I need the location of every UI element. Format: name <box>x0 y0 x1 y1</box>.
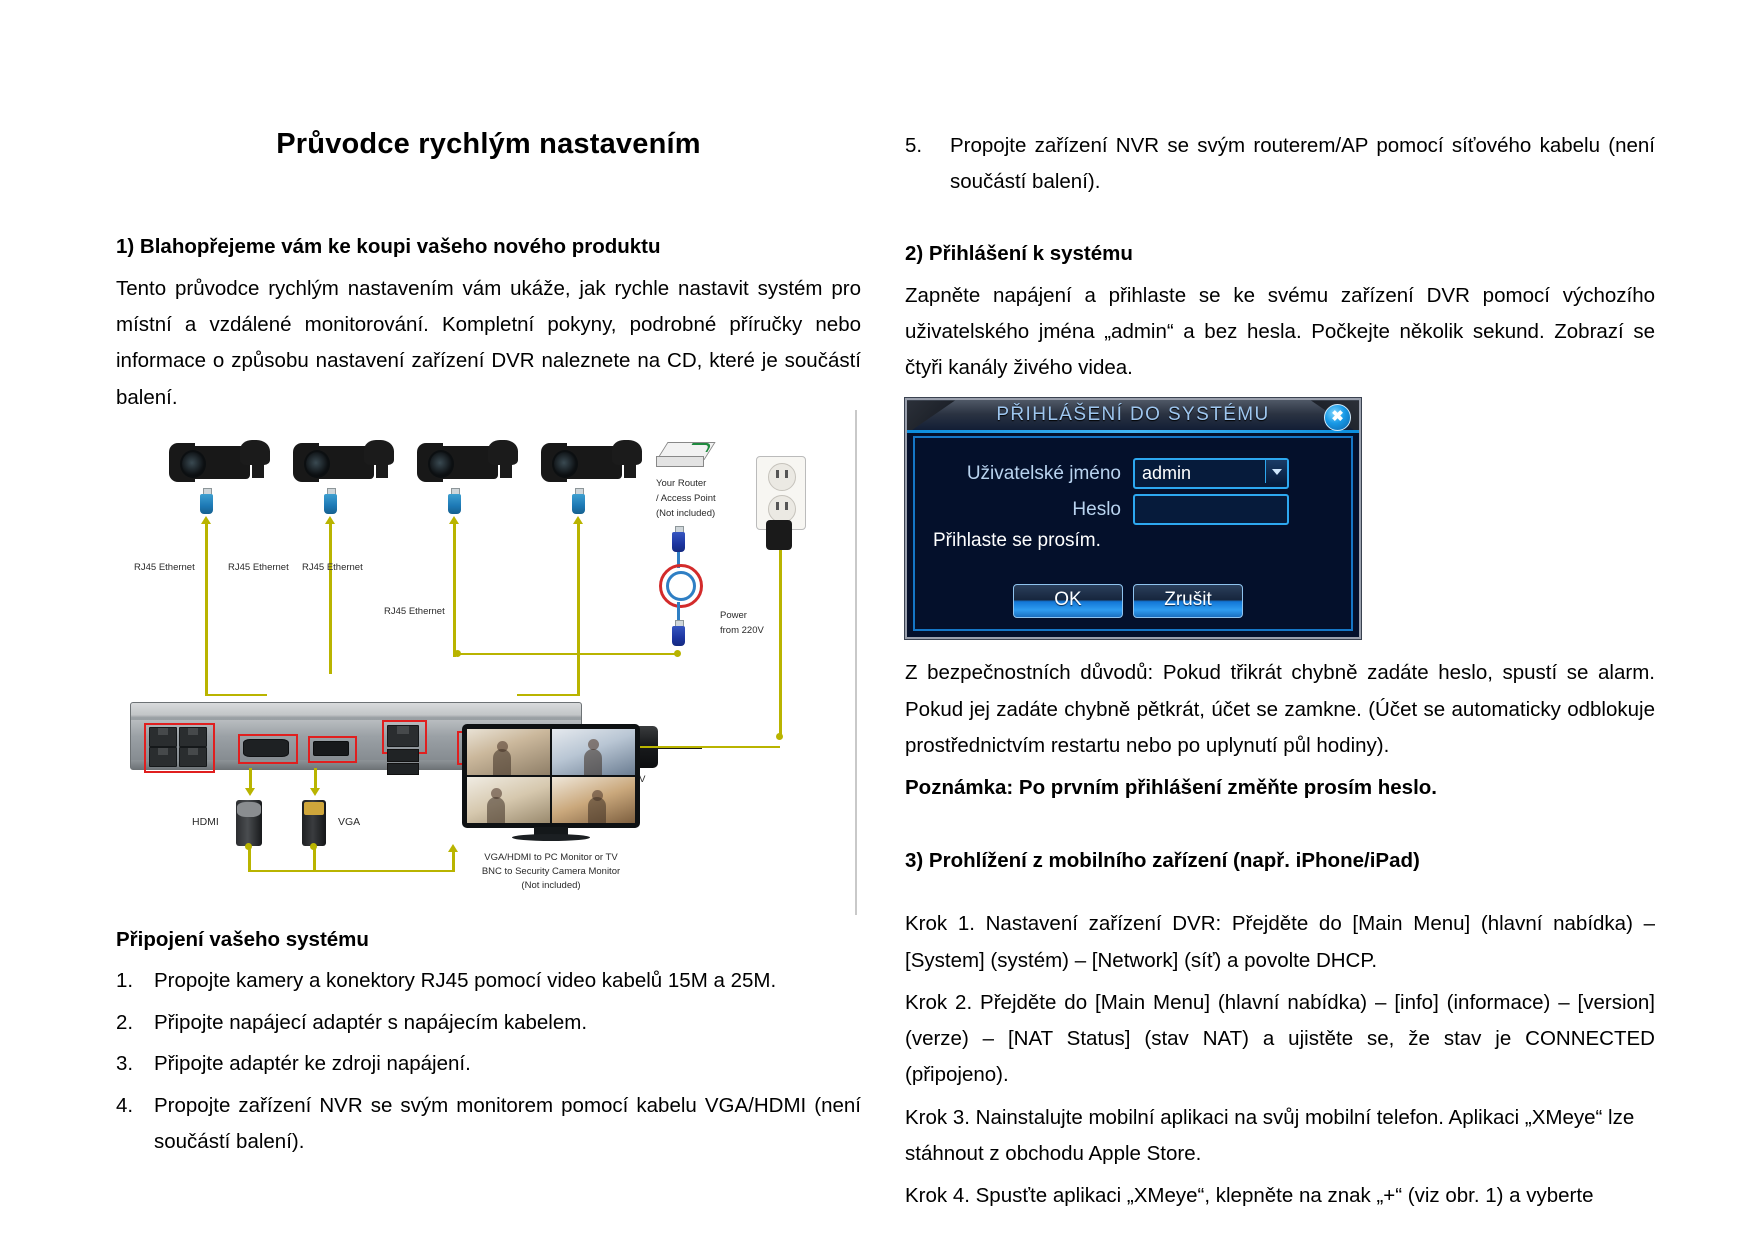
section-3-step-2: Krok 2. Přejděte do [Main Menu] (hlavní … <box>905 985 1655 1094</box>
section-3-step-3: Krok 3. Nainstalujte mobilní aplikaci na… <box>905 1100 1655 1173</box>
router-label-line2: / Access Point <box>656 493 716 504</box>
chevron-down-icon[interactable] <box>1265 460 1287 483</box>
hdmi-drop-wire <box>249 768 252 790</box>
wall-outlet-icon <box>756 456 806 530</box>
list-item-text: Připojte napájecí adaptér s napájecím ka… <box>154 1005 861 1041</box>
cable-node-mains <box>776 733 783 740</box>
right-column: 5. Propojte zařízení NVR se svým routere… <box>905 128 1655 1221</box>
vga-drop-arrow <box>310 788 320 796</box>
camera-2-icon <box>302 440 398 486</box>
rj45-label-1: RJ45 Ethernet <box>134 562 195 573</box>
camera-3-icon <box>426 440 522 486</box>
rj45-connector-router-bottom <box>672 620 685 646</box>
camera-4-icon <box>550 440 646 486</box>
list-item-number: 4. <box>116 1088 154 1161</box>
rj45-connector-cam3 <box>448 488 461 514</box>
list-item-text: Připojte adaptér ke zdroji napájení. <box>154 1046 861 1082</box>
password-change-note: Poznámka: Po prvním přihlášení změňte pr… <box>905 770 1655 806</box>
list-item: 2. Připojte napájecí adaptér s napájecím… <box>116 1005 861 1041</box>
vga-port-highlight <box>238 734 298 764</box>
cable-arrow-cam3 <box>449 516 459 524</box>
list-item-text: Propojte kamery a konektory RJ45 pomocí … <box>154 963 861 999</box>
username-label: Uživatelské jméno <box>915 463 1133 485</box>
password-label: Heslo <box>915 499 1133 521</box>
hdmi-label: HDMI <box>192 816 219 828</box>
poe-ports-highlight <box>144 723 215 773</box>
ok-button[interactable]: OK <box>1013 584 1123 618</box>
left-column: Průvodce rychlým nastavením 1) Blahopřej… <box>116 128 861 1166</box>
monitor-label-line2: BNC to Security Camera Monitor <box>446 866 656 877</box>
router-cable-lower <box>677 602 680 620</box>
list-item-number: 2. <box>116 1005 154 1041</box>
power-label-line1: Power <box>720 610 747 621</box>
router-icon <box>656 442 714 470</box>
cable-coil-icon <box>666 571 696 601</box>
section-3-step-1: Krok 1. Nastavení zařízení DVR: Přejděte… <box>905 906 1655 979</box>
power-label-line2: from 220V <box>720 625 764 636</box>
cable-arrow-cam2 <box>325 516 335 524</box>
mains-power-wire-v <box>779 550 782 736</box>
section-1-heading: 1) Blahopřejeme vám ke koupi vašeho nové… <box>116 233 861 261</box>
cable-cam4 <box>577 524 580 696</box>
password-row: Heslo <box>915 494 1351 525</box>
cancel-button[interactable]: Zrušit <box>1133 584 1243 618</box>
dialog-titlebar: PŘIHLÁŠENÍ DO SYSTÉMU <box>907 400 1359 433</box>
dialog-title: PŘIHLÁŠENÍ DO SYSTÉMU <box>907 404 1359 426</box>
list-item: 3. Připojte adaptér ke zdroji napájení. <box>116 1046 861 1082</box>
monitor-channel-3 <box>467 777 550 823</box>
rj45-connector-cam1 <box>200 488 213 514</box>
cable-cam4-h <box>517 694 577 697</box>
cable-cam1-h <box>205 694 267 697</box>
router-label-line3: (Not included) <box>656 508 715 519</box>
connection-heading: Připojení vašeho systému <box>116 926 861 954</box>
cable-cam3 <box>453 524 456 657</box>
vga-label: VGA <box>338 816 360 828</box>
monitor-channel-2 <box>552 729 635 775</box>
section-3-step-4: Krok 4. Spusťte aplikaci „XMeye“, klepně… <box>905 1178 1655 1214</box>
list-item: 5. Propojte zařízení NVR se svým routere… <box>905 128 1655 201</box>
monitor-device <box>462 724 640 842</box>
dialog-body: Uživatelské jméno admin Heslo Přihlaste … <box>913 436 1353 631</box>
titlebar-accent-line <box>907 430 1359 433</box>
login-dialog: PŘIHLÁŠENÍ DO SYSTÉMU ✖ Uživatelské jmén… <box>905 398 1361 639</box>
cable-node-hdmi <box>310 843 317 850</box>
usb-port-2 <box>387 763 419 775</box>
list-item: 1. Propojte kamery a konektory RJ45 pomo… <box>116 963 861 999</box>
list-item-number: 5. <box>905 128 950 201</box>
camera-1-icon <box>178 440 274 486</box>
usb-port-1 <box>387 749 419 762</box>
cable-arrow-cam4 <box>573 516 583 524</box>
username-row: Uživatelské jméno admin <box>915 458 1351 489</box>
rj45-label-4: RJ45 Ethernet <box>384 606 445 617</box>
monitor-link-arrow <box>448 844 458 852</box>
username-input[interactable]: admin <box>1133 458 1289 489</box>
connection-steps-list: 1. Propojte kamery a konektory RJ45 pomo… <box>116 963 861 1160</box>
page-title: Průvodce rychlým nastavením <box>116 128 861 161</box>
document-page: Průvodce rychlým nastavením 1) Blahopřej… <box>0 0 1754 1241</box>
rj45-connector-router-top <box>672 526 685 552</box>
monitor-channel-4 <box>552 777 635 823</box>
vga-drop-wire <box>314 768 317 790</box>
list-item-text: Propojte zařízení NVR se svým monitorem … <box>154 1088 861 1161</box>
cable-node-lan <box>454 650 461 657</box>
password-input[interactable] <box>1133 494 1289 525</box>
security-note-paragraph: Z bezpečnostních důvodů: Pokud třikrát c… <box>905 655 1655 764</box>
list-item-number: 3. <box>116 1046 154 1082</box>
rj45-connector-cam4 <box>572 488 585 514</box>
rj45-label-3: RJ45 Ethernet <box>302 562 363 573</box>
step-5-list: 5. Propojte zařízení NVR se svým routere… <box>905 128 1655 201</box>
hdmi-connector-icon <box>302 800 326 846</box>
login-hint: Přihlaste se prosím. <box>933 530 1101 552</box>
list-item-text: Propojte zařízení NVR se svým routerem/A… <box>950 128 1655 201</box>
rj45-label-2: RJ45 Ethernet <box>228 562 289 573</box>
cable-arrow-cam1 <box>201 516 211 524</box>
vga-connector-icon <box>236 800 262 846</box>
system-connection-diagram: RJ45 Ethernet RJ45 Ethernet RJ45 Etherne… <box>116 434 861 904</box>
cable-node-vga <box>245 843 252 850</box>
router-to-nvr-wire <box>456 653 678 656</box>
monitor-label-line1: VGA/HDMI to PC Monitor or TV <box>446 852 656 863</box>
cable-cam2 <box>329 524 332 674</box>
monitor-channel-1 <box>467 729 550 775</box>
cable-cam1 <box>205 524 208 696</box>
section-2-paragraph: Zapněte napájení a přihlaste se ke svému… <box>905 278 1655 387</box>
section-1-paragraph: Tento průvodce rychlým nastavením vám uk… <box>116 271 861 416</box>
section-3-heading: 3) Prohlížení z mobilního zařízení (např… <box>905 847 1655 875</box>
power-plug-icon <box>766 520 792 550</box>
router-label-line1: Your Router <box>656 478 706 489</box>
section-2-heading: 2) Přihlášení k systému <box>905 240 1655 268</box>
username-value: admin <box>1135 463 1191 484</box>
hdmi-port-highlight <box>308 736 357 763</box>
list-item-number: 1. <box>116 963 154 999</box>
monitor-label-line3: (Not included) <box>446 880 656 891</box>
monitor-link-wire <box>248 870 454 873</box>
rj45-connector-cam2 <box>324 488 337 514</box>
list-item: 4. Propojte zařízení NVR se svým monitor… <box>116 1088 861 1161</box>
hdmi-drop-arrow <box>245 788 255 796</box>
